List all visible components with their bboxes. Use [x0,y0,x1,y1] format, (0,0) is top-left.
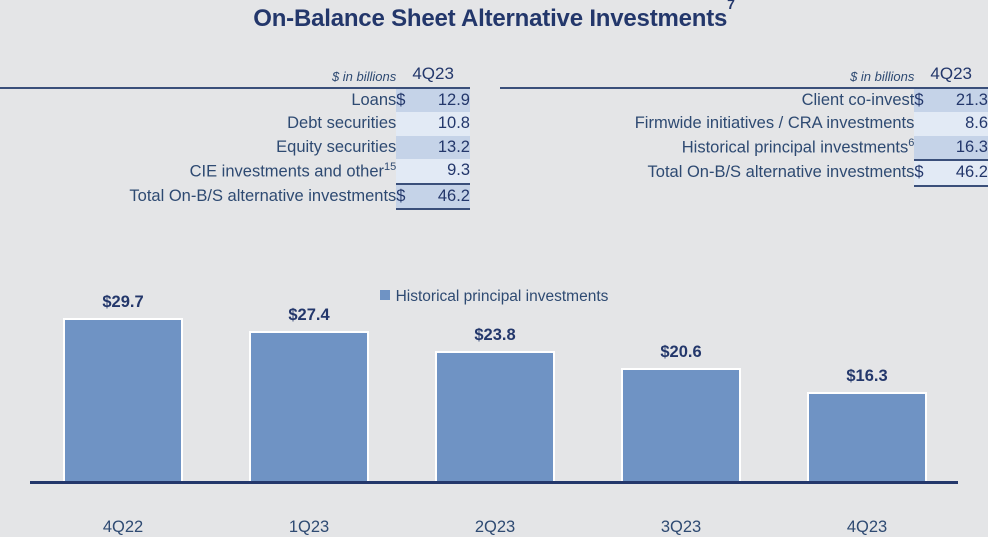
row-value: 10.8 [422,112,470,135]
row-label: Historical principal investments6 [500,136,914,160]
row-value: 46.2 [940,160,988,185]
bar-1q23 [249,331,369,482]
row-value: 46.2 [422,184,470,209]
chart-plot-area: $29.7 4Q22 $27.4 1Q23 $23.8 2Q23 $20.6 3… [30,300,958,482]
row-currency [914,136,940,160]
bar-group-4: $16.3 4Q23 [774,300,960,482]
left-table-header-row: $ in billions 4Q23 [0,60,470,84]
row-currency [396,159,422,183]
bar-value-label: $27.4 [216,306,402,325]
row-label-footnote: 6 [908,137,914,149]
category-label: 2Q23 [402,518,588,537]
row-label-text: CIE investments and other [190,162,384,180]
table-row: Historical principal investments6 16.3 [500,136,988,160]
bar-value-label: $29.7 [30,293,216,312]
row-label: Debt securities [0,112,396,135]
right-table-body: $ in billions 4Q23 Client co-invest $ 21… [500,60,988,186]
row-currency: $ [396,184,422,209]
right-table-unit-label: $ in billions [500,60,914,84]
row-label-text: Loans [351,91,396,109]
table-row: Debt securities 10.8 [0,112,470,135]
row-currency: $ [914,88,940,112]
row-label-text: Client co-invest [802,91,915,109]
legend-swatch-icon [380,290,390,300]
right-table-period-header: 4Q23 [914,60,988,84]
page-title-footnote: 7 [727,0,735,12]
row-currency [396,112,422,135]
right-metrics-table: $ in billions 4Q23 Client co-invest $ 21… [500,60,988,187]
left-table-unit-label: $ in billions [0,60,396,84]
row-label-text: Historical principal investments [682,139,909,157]
table-row: Client co-invest $ 21.3 [500,88,988,112]
row-value: 16.3 [940,136,988,160]
chart-x-axis [30,481,958,484]
row-currency: $ [396,88,422,112]
bar-group-1: $27.4 1Q23 [216,300,402,482]
category-label: 1Q23 [216,518,402,537]
bar-value-label: $23.8 [402,326,588,345]
row-label-text: Firmwide initiatives / CRA investments [635,114,915,132]
bar-value-label: $20.6 [588,343,774,362]
page-title: On-Balance Sheet Alternative Investments… [0,4,988,33]
table-row: Firmwide initiatives / CRA investments 8… [500,112,988,135]
bar-3q23 [621,368,741,482]
table-row-total: Total On-B/S alternative investments $ 4… [0,184,470,209]
historical-principal-investments-chart: Historical principal investments $29.7 4… [0,270,988,516]
bar-2q23 [435,351,555,482]
category-label: 3Q23 [588,518,774,537]
row-label-text: Debt securities [287,114,396,132]
right-table-header-row: $ in billions 4Q23 [500,60,988,84]
table-row-total: Total On-B/S alternative investments $ 4… [500,160,988,185]
row-label-text: Total On-B/S alternative investments [129,187,396,205]
left-table-period-header: 4Q23 [396,60,470,84]
row-value: 9.3 [422,159,470,183]
row-currency [914,112,940,135]
table-row: Equity securities 13.2 [0,136,470,159]
bar-4q22 [63,318,183,482]
row-label-text: Total On-B/S alternative investments [648,163,915,181]
category-label: 4Q23 [774,518,960,537]
page-title-text: On-Balance Sheet Alternative Investments [253,5,727,32]
row-label: Total On-B/S alternative investments [500,160,914,185]
row-label: Equity securities [0,136,396,159]
bar-4q23 [807,392,927,482]
category-label: 4Q22 [30,518,216,537]
row-label: Client co-invest [500,88,914,112]
table-row: Loans $ 12.9 [0,88,470,112]
row-value: 12.9 [422,88,470,112]
row-label: Firmwide initiatives / CRA investments [500,112,914,135]
row-value: 13.2 [422,136,470,159]
row-value: 21.3 [940,88,988,112]
bar-group-2: $23.8 2Q23 [402,300,588,482]
row-label-text: Equity securities [276,138,396,156]
row-value: 8.6 [940,112,988,135]
left-metrics-table: $ in billions 4Q23 Loans $ 12.9 Debt sec… [0,60,470,210]
row-label: CIE investments and other15 [0,159,396,183]
row-label: Total On-B/S alternative investments [0,184,396,209]
table-row: CIE investments and other15 9.3 [0,159,470,183]
bar-group-3: $20.6 3Q23 [588,300,774,482]
row-label-footnote: 15 [384,161,396,173]
bar-value-label: $16.3 [774,367,960,386]
bar-group-0: $29.7 4Q22 [30,300,216,482]
row-currency [396,136,422,159]
row-currency: $ [914,160,940,185]
row-label: Loans [0,88,396,112]
left-table-body: $ in billions 4Q23 Loans $ 12.9 Debt sec… [0,60,470,209]
